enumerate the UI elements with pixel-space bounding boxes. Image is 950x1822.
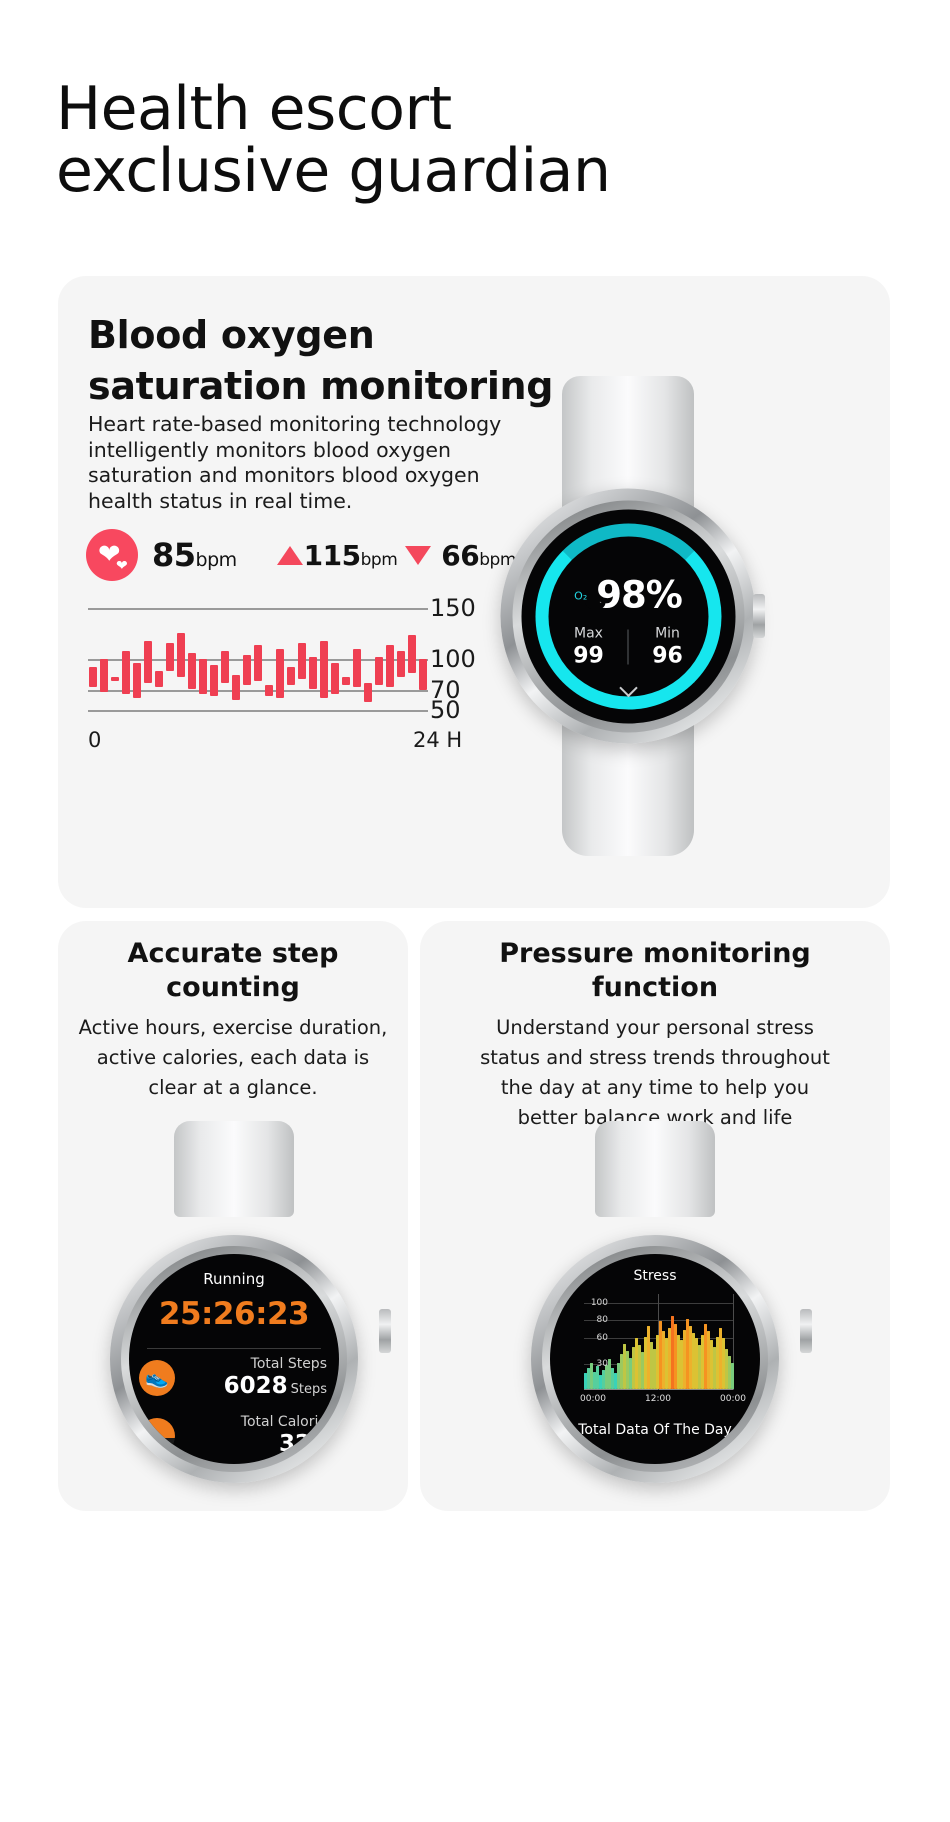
step-counting-description: Active hours, exercise duration, active … <box>58 1013 408 1103</box>
heart-rate-bar <box>199 659 207 694</box>
total-steps-value: 6028Steps <box>175 1373 327 1399</box>
watch-bezel-inner: Stress Total Data Of The Day 10080603000… <box>542 1246 768 1472</box>
stress-chart-title: Stress <box>550 1268 760 1284</box>
heart-rate-max-unit: bpm <box>361 550 398 570</box>
pressure-desc-line-3: the day at any time to help you <box>432 1073 878 1103</box>
blood-oxygen-description: Heart rate-based monitoring technology i… <box>88 412 508 514</box>
heart-rate-current-value: 85 <box>152 536 196 574</box>
heart-rate-y-label: 150 <box>430 594 476 622</box>
heart-rate-bar <box>188 653 196 690</box>
blood-oxygen-title: Blood oxygen saturation monitoring <box>88 310 553 412</box>
smartwatch-blood-oxygen: O₂ 98% Max 99 Min 96 <box>498 376 758 856</box>
stress-x-label: 12:00 <box>645 1394 671 1404</box>
blood-oxygen-title-line-1: Blood oxygen <box>88 310 553 361</box>
heart-rate-bar <box>89 667 97 687</box>
pressure-desc-line-2: status and stress trends throughout <box>432 1043 878 1073</box>
shoe-icon: 👟 <box>139 1360 175 1396</box>
blood-oxygen-desc-line-2: intelligently monitors blood oxygen <box>88 438 508 464</box>
heart-rate-bar <box>386 645 394 688</box>
stress-baseline <box>584 1389 734 1390</box>
heart-rate-chart <box>88 598 428 720</box>
total-calorie-label: Total Calorie <box>175 1414 327 1430</box>
page-title: Health escort exclusive guardian <box>56 78 610 202</box>
heart-rate-bar <box>320 641 328 698</box>
heart-rate-bar <box>265 685 273 695</box>
heart-rate-current: 85bpm <box>152 536 237 574</box>
heart-rate-max: 115bpm <box>304 539 398 572</box>
step-desc-line-2: active calories, each data is <box>58 1043 408 1073</box>
heart-rate-bar <box>364 683 372 701</box>
pressure-desc-line-1: Understand your personal stress <box>432 1013 878 1043</box>
oxygen-min-stat: Min 96 <box>629 625 707 668</box>
pressure-monitoring-title: Pressure monitoring function <box>420 937 890 1005</box>
heart-rate-bar <box>155 671 163 687</box>
heart-rate-bar <box>100 659 108 692</box>
heart-rate-bar <box>177 633 185 678</box>
blood-oxygen-desc-line-4: health status in real time. <box>88 489 508 515</box>
oxygen-stats: Max 99 Min 96 <box>521 625 735 668</box>
heart-rate-bar <box>221 651 229 684</box>
step-desc-line-1: Active hours, exercise duration, <box>58 1013 408 1043</box>
heart-rate-max-value: 115 <box>304 539 361 572</box>
watch-bezel: O₂ 98% Max 99 Min 96 <box>501 489 756 744</box>
total-steps-label: Total Steps <box>175 1356 327 1372</box>
pressure-monitoring-card: Pressure monitoring function Understand … <box>420 921 890 1511</box>
heart-rate-bar <box>353 649 361 688</box>
heart-rate-bar <box>232 675 240 699</box>
total-steps-row: 👟 Total Steps 6028Steps <box>139 1356 327 1399</box>
heart-rate-summary: ❤ ❤ 85bpm 115bpm 66bpm <box>86 529 516 581</box>
watch-crown-button[interactable] <box>800 1309 812 1353</box>
watch-strap-top <box>595 1121 715 1217</box>
pressure-title-line-1: Pressure monitoring <box>434 937 876 971</box>
stress-chart-footer: Total Data Of The Day <box>550 1422 760 1438</box>
step-counting-card: Accurate step counting Active hours, exe… <box>58 921 408 1511</box>
oxygen-reading: O₂ 98% <box>521 573 735 616</box>
watch-screen: O₂ 98% Max 99 Min 96 <box>521 509 735 723</box>
heart-rate-bar <box>243 655 251 686</box>
smartwatch-stress: Stress Total Data Of The Day 10080603000… <box>505 1121 805 1511</box>
flame-icon <box>139 1418 175 1454</box>
heart-rate-bar <box>309 657 317 690</box>
heart-rate-bar <box>144 641 152 684</box>
heart-rate-bar <box>397 651 405 677</box>
step-title-line-2: counting <box>72 971 394 1005</box>
heart-rate-bar <box>122 651 130 694</box>
stress-bar <box>731 1363 734 1389</box>
stress-y-label: 100 <box>591 1298 608 1308</box>
oxygen-symbol: O₂ <box>574 590 587 603</box>
watch-strap-top <box>174 1121 294 1217</box>
smartwatch-step-counting: Running 25:26:23 👟 Total Steps 6028Steps <box>84 1121 384 1511</box>
oxygen-drop-icon: O₂ <box>574 590 587 604</box>
total-calorie-row: Total Calorie 328 <box>139 1414 327 1457</box>
step-title-line-1: Accurate step <box>72 937 394 971</box>
watch-crown-button[interactable] <box>379 1309 391 1353</box>
total-steps-number: 6028 <box>224 1373 288 1399</box>
pressure-title-line-2: function <box>434 971 876 1005</box>
oxygen-min-value: 96 <box>629 643 707 668</box>
blood-oxygen-desc-line-1: Heart rate-based monitoring technology <box>88 412 508 438</box>
step-desc-line-3: clear at a glance. <box>58 1073 408 1103</box>
heart-rate-bar <box>166 643 174 671</box>
total-calorie-value: 328 <box>175 1431 327 1457</box>
divider <box>147 1348 321 1349</box>
oxygen-max-label: Max <box>550 625 628 641</box>
step-counting-title: Accurate step counting <box>58 937 408 1005</box>
stress-y-label: 80 <box>597 1315 608 1325</box>
heart-rate-min-value: 66 <box>441 539 479 572</box>
watch-bezel: Stress Total Data Of The Day 10080603000… <box>531 1235 779 1483</box>
heart-rate-bar <box>419 659 427 690</box>
stress-y-label: 60 <box>597 1333 608 1343</box>
blood-oxygen-card: Blood oxygen saturation monitoring Heart… <box>58 276 890 908</box>
blood-oxygen-title-line-2: saturation monitoring <box>88 361 553 412</box>
watch-bezel-inner: O₂ 98% Max 99 Min 96 <box>512 500 744 732</box>
heart-rate-bar <box>375 657 383 685</box>
heart-rate-x-end: 24 H <box>413 728 462 752</box>
heart-rate-bar <box>298 643 306 680</box>
watch-crown-button[interactable] <box>753 594 765 638</box>
heart-icon: ❤ ❤ <box>86 529 138 581</box>
heart-rate-bar <box>133 663 141 698</box>
headline-line-2: exclusive guardian <box>56 140 610 202</box>
heart-rate-y-label: 50 <box>430 696 461 724</box>
watch-screen: Stress Total Data Of The Day 10080603000… <box>550 1254 760 1464</box>
stress-x-label: 00:00 <box>580 1394 606 1404</box>
running-timer: 25:26:23 <box>129 1296 339 1332</box>
heart-rate-bar <box>408 635 416 674</box>
stress-y-label: 30 <box>597 1359 608 1369</box>
heart-rate-bar <box>210 665 218 696</box>
oxygen-max-value: 99 <box>550 643 628 668</box>
heart-rate-gridline <box>88 710 428 712</box>
heart-rate-x-start: 0 <box>88 728 101 752</box>
watch-bezel: Running 25:26:23 👟 Total Steps 6028Steps <box>110 1235 358 1483</box>
running-mode-label: Running <box>129 1270 339 1288</box>
heart-rate-bar <box>254 645 262 682</box>
heart-rate-bar <box>331 663 339 694</box>
arrow-down-icon <box>405 546 431 565</box>
heart-rate-bar <box>276 649 284 698</box>
oxygen-value: 98% <box>596 573 682 616</box>
heart-rate-bar <box>287 667 295 685</box>
heart-rate-current-unit: bpm <box>196 549 237 571</box>
stress-x-label: 00:00 <box>720 1394 746 1404</box>
heart-rate-bar <box>342 677 350 685</box>
heart-rate-gridline <box>88 608 428 610</box>
heart-rate-bar <box>111 677 119 681</box>
blood-oxygen-desc-line-3: saturation and monitors blood oxygen <box>88 463 508 489</box>
watch-screen: Running 25:26:23 👟 Total Steps 6028Steps <box>129 1254 339 1464</box>
arrow-up-icon <box>277 546 303 565</box>
watch-bezel-inner: Running 25:26:23 👟 Total Steps 6028Steps <box>121 1246 347 1472</box>
oxygen-max-stat: Max 99 <box>550 625 628 668</box>
oxygen-min-label: Min <box>629 625 707 641</box>
pressure-monitoring-description: Understand your personal stress status a… <box>432 1013 878 1133</box>
heart-rate-y-label: 100 <box>430 645 476 673</box>
total-steps-unit: Steps <box>291 1382 327 1397</box>
headline-line-1: Health escort <box>56 74 452 144</box>
